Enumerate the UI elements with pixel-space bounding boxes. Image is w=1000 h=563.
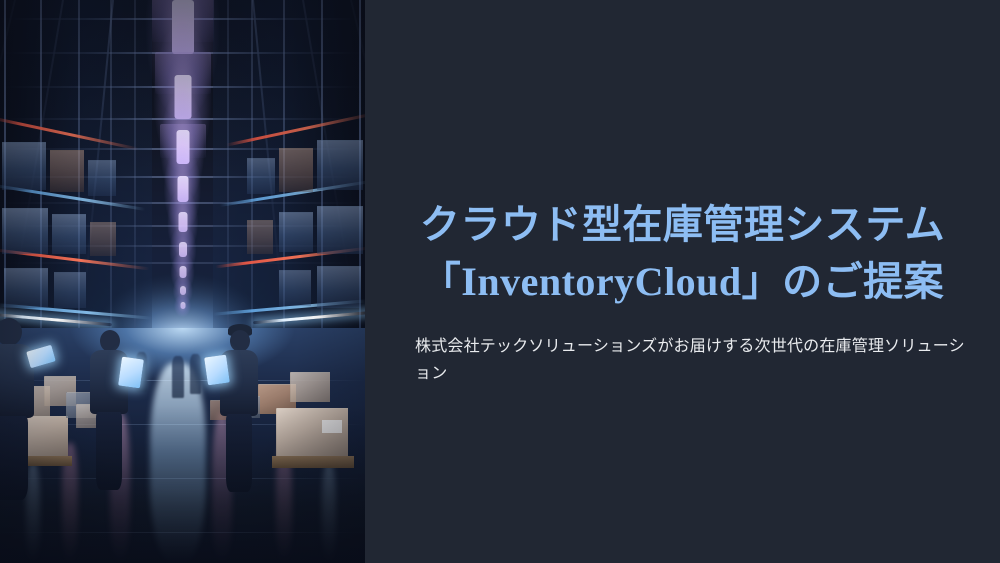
ceiling-lamp: [176, 130, 189, 164]
slide-title: クラウド型在庫管理システム 「InventoryCloud」のご提案: [390, 196, 975, 310]
warehouse-worker-distant: [172, 356, 184, 398]
pallet-carton: [290, 372, 330, 402]
ceiling-lamp: [178, 212, 187, 232]
warehouse-worker-distant: [190, 354, 201, 394]
carton-label: [322, 420, 342, 433]
ceiling-lamp: [174, 75, 191, 119]
ceiling-lamp: [179, 266, 186, 278]
warehouse-worker: [0, 318, 46, 508]
slide-subtitle: 株式会社テックソリューションズがお届けする次世代の在庫管理ソリューション: [415, 333, 977, 387]
presentation-slide: クラウド型在庫管理システム 「InventoryCloud」のご提案 株式会社テ…: [0, 0, 1000, 563]
worker-tablet: [204, 355, 230, 386]
ceiling-lamp: [180, 302, 185, 309]
warehouse-hero-image: [0, 0, 365, 563]
ceiling-lamp: [179, 242, 187, 257]
slide-content-panel: クラウド型在庫管理システム 「InventoryCloud」のご提案 株式会社テ…: [365, 0, 1000, 563]
ceiling-lamp: [180, 286, 186, 295]
wooden-pallet: [272, 456, 354, 468]
ceiling-lamp: [172, 0, 194, 54]
worker-tablet: [118, 357, 144, 389]
ceiling-lamp: [177, 176, 188, 202]
